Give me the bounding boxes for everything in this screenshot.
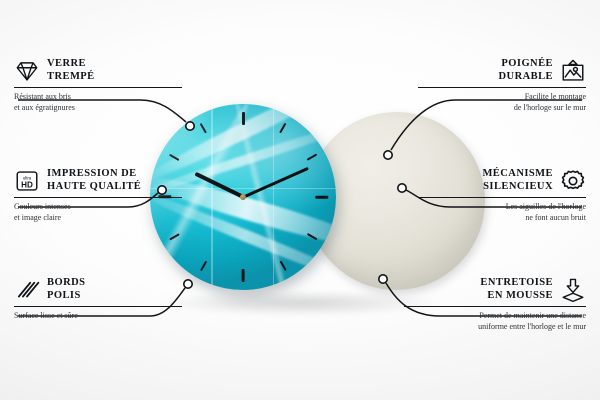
feature-title: POIGNÉE DURABLE — [499, 58, 554, 84]
feature-header: POIGNÉE DURABLE — [418, 58, 586, 84]
connector-dot-right-3 — [379, 275, 387, 283]
feature-header: MÉCANISME SILENCIEUX — [418, 168, 586, 194]
feature-rule — [418, 197, 586, 198]
feature-poignee-durable: POIGNÉE DURABLE Facilite le montage de l… — [418, 58, 586, 113]
connector-dot-left-3 — [184, 280, 192, 288]
feature-entretoise-en-mousse: ENTRETOISE EN MOUSSE Permet de maintenir… — [404, 277, 586, 332]
feature-rule — [14, 87, 182, 88]
feature-header: ENTRETOISE EN MOUSSE — [404, 277, 586, 303]
feature-title: ENTRETOISE EN MOUSSE — [480, 277, 553, 303]
feature-desc-line2: et image claire — [14, 213, 182, 224]
feature-desc-line1: Les aiguilles de l'horloge — [418, 202, 586, 213]
feature-title: IMPRESSION DE HAUTE QUALITÉ — [47, 168, 141, 194]
feature-verre-trempe: VERRE TREMPÉ Résistant aux bris et aux é… — [14, 58, 182, 113]
feature-desc-line2: ne font aucun bruit — [418, 213, 586, 224]
feature-desc-line1: Surface lisse et sûre — [14, 311, 182, 322]
feature-desc-line2: uniforme entre l'horloge et le mur — [404, 322, 586, 333]
feature-rule — [14, 306, 182, 307]
feature-desc-line1: Facilite le montage — [418, 92, 586, 103]
feature-rule — [418, 87, 586, 88]
foam-spacer-icon — [560, 277, 586, 303]
ultra-hd-badge-icon: ultra HD — [14, 168, 40, 194]
feature-rule — [14, 197, 182, 198]
connector-dot-left-1 — [186, 122, 194, 130]
feature-desc-line1: Résistant aux bris — [14, 92, 182, 103]
feature-title: VERRE TREMPÉ — [47, 58, 95, 84]
feature-desc-line2: et aux égratignures — [14, 103, 182, 114]
svg-text:HD: HD — [21, 181, 33, 190]
polished-edges-icon — [14, 277, 40, 303]
feature-desc-line1: Permet de maintenir une distance — [404, 311, 586, 322]
feature-bords-polis: BORDS POLIS Surface lisse et sûre — [14, 277, 182, 322]
feature-header: VERRE TREMPÉ — [14, 58, 182, 84]
connector-dot-right-1 — [384, 151, 392, 159]
gear-icon — [560, 168, 586, 194]
feature-title: BORDS POLIS — [47, 277, 85, 303]
feature-header: BORDS POLIS — [14, 277, 182, 303]
infographic-stage: AA — [0, 0, 600, 400]
feature-header: ultra HD IMPRESSION DE HAUTE QUALITÉ — [14, 168, 182, 194]
feature-desc-line1: Couleurs intenses — [14, 202, 182, 213]
feature-title: MÉCANISME SILENCIEUX — [482, 168, 553, 194]
diamond-icon — [14, 58, 40, 84]
connector-dot-right-2 — [398, 184, 406, 192]
picture-frame-hanger-icon — [560, 58, 586, 84]
feature-rule — [404, 306, 586, 307]
feature-impression-haute-qualite: ultra HD IMPRESSION DE HAUTE QUALITÉ Cou… — [14, 168, 182, 223]
feature-mecanisme-silencieux: MÉCANISME SILENCIEUX Les aiguilles de l'… — [418, 168, 586, 223]
feature-desc-line2: de l'horloge sur le mur — [418, 103, 586, 114]
